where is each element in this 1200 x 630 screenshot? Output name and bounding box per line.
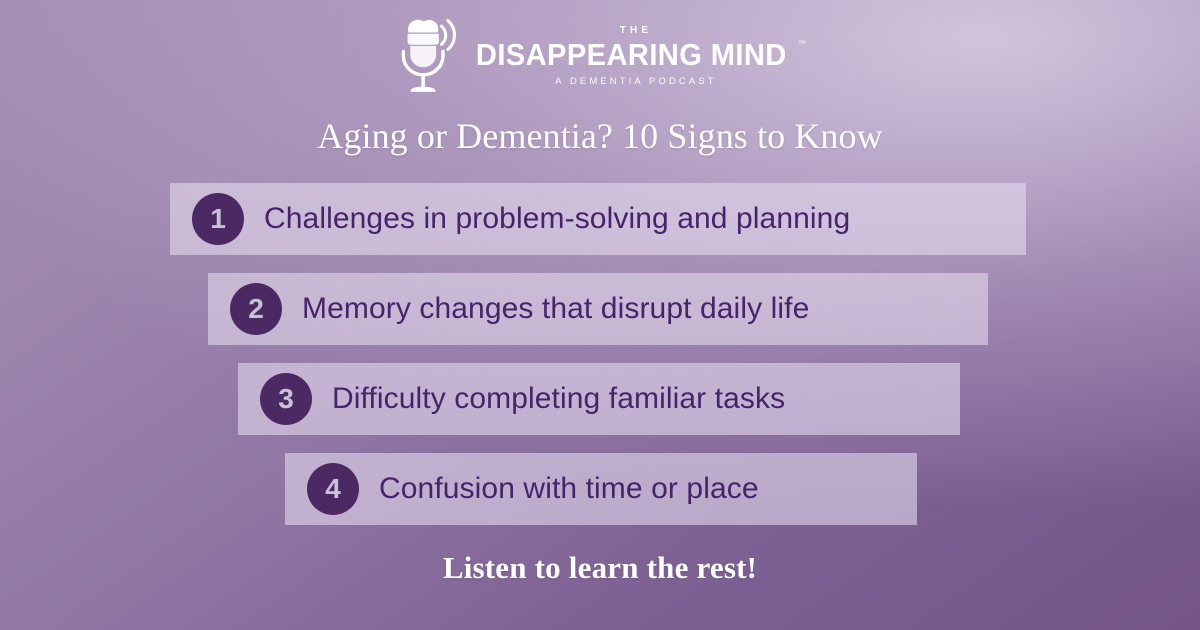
sign-number-badge: 2: [230, 283, 282, 335]
brand-logo-inner: THE DISAPPEARING MIND ™ A DEMENTIA PODCA…: [394, 12, 806, 96]
signs-list: 1 Challenges in problem-solving and plan…: [0, 183, 1200, 543]
microphone-brain-soundwave-icon: [394, 12, 456, 96]
call-to-action-text: Listen to learn the rest!: [0, 550, 1200, 586]
podcast-promo-graphic: THE DISAPPEARING MIND ™ A DEMENTIA PODCA…: [0, 0, 1200, 630]
list-item: 1 Challenges in problem-solving and plan…: [0, 183, 1200, 255]
brand-name-row: DISAPPEARING MIND ™: [466, 39, 806, 70]
sign-text: Challenges in problem-solving and planni…: [264, 202, 850, 236]
sign-text: Memory changes that disrupt daily life: [302, 292, 809, 326]
sign-number-badge: 4: [307, 463, 359, 515]
brand-wordmark: THE DISAPPEARING MIND ™ A DEMENTIA PODCA…: [466, 22, 806, 87]
trademark-symbol: ™: [798, 40, 806, 48]
sign-bar-2: 2 Memory changes that disrupt daily life: [208, 273, 988, 345]
sign-bar-1: 1 Challenges in problem-solving and plan…: [170, 183, 1026, 255]
sign-text: Confusion with time or place: [379, 472, 759, 506]
list-item: 3 Difficulty completing familiar tasks: [0, 363, 1200, 435]
sign-number-badge: 3: [260, 373, 312, 425]
sign-bar-4: 4 Confusion with time or place: [285, 453, 917, 525]
list-item: 2 Memory changes that disrupt daily life: [0, 273, 1200, 345]
page-title: Aging or Dementia? 10 Signs to Know: [0, 117, 1200, 157]
sign-text: Difficulty completing familiar tasks: [332, 382, 785, 416]
brand-logo-block: THE DISAPPEARING MIND ™ A DEMENTIA PODCA…: [0, 12, 1200, 96]
brand-subtitle-label: A DEMENTIA PODCAST: [555, 77, 716, 87]
list-item: 4 Confusion with time or place: [0, 453, 1200, 525]
sign-bar-3: 3 Difficulty completing familiar tasks: [238, 363, 960, 435]
sign-number-badge: 1: [192, 193, 244, 245]
brand-the-label: THE: [620, 26, 653, 36]
brand-name-label: DISAPPEARING MIND: [476, 39, 787, 70]
